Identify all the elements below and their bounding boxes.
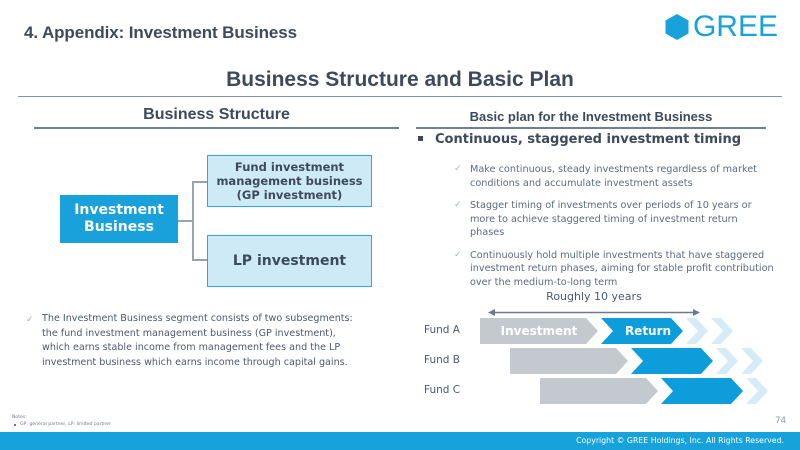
hexagon-icon <box>664 13 690 41</box>
org-connector <box>178 181 208 261</box>
copyright-bar: Copyright © GREE Holdings, Inc. All Righ… <box>0 432 800 450</box>
org-node-fund-line2: management business <box>216 174 362 188</box>
left-column-note: ✓ The Investment Business segment consis… <box>42 312 362 370</box>
org-node-lp-label: LP investment <box>233 254 346 268</box>
footnotes: Notes: GP: general partner, LP: limited … <box>12 414 111 428</box>
list-item-text: Continuously hold multiple investments t… <box>470 250 774 288</box>
check-icon: ✓ <box>454 249 462 263</box>
fund-bar-c <box>540 378 800 404</box>
right-column-heading-text: Basic plan for the Investment Business <box>416 109 766 124</box>
title-divider <box>18 96 782 97</box>
timeline-span-label: Roughly 10 years <box>484 290 704 303</box>
page-title: 4. Appendix: Investment Business <box>24 23 297 43</box>
org-node-fund-line3: (GP investment) <box>237 188 343 202</box>
org-node-lp-investment: LP investment <box>207 235 372 287</box>
logo-wordmark: GREE <box>693 12 778 42</box>
fund-bar-a <box>480 318 790 344</box>
fund-row-label: Fund C <box>424 384 476 396</box>
page-number: 74 <box>775 416 786 426</box>
org-node-fund-line1: Fund investment <box>235 160 344 174</box>
fund-bar-b <box>510 348 800 374</box>
connector-stem <box>178 220 193 222</box>
table-row: Fund B <box>424 348 784 374</box>
left-column-heading-text: Business Structure <box>34 106 399 124</box>
connector-branch-bottom <box>192 259 208 261</box>
square-bullet-icon <box>418 136 423 141</box>
gree-logo: GREE <box>664 12 778 42</box>
fund-row-label: Fund A <box>424 324 476 336</box>
left-heading-underline <box>34 127 399 129</box>
org-node-root-line2: Business <box>84 219 154 235</box>
list-item-text: Stagger timing of investments over perio… <box>470 200 752 238</box>
org-node-fund-investment: Fund investment management business (GP … <box>207 155 372 207</box>
list-item-text: Make continuous, steady investments rega… <box>470 164 757 189</box>
right-sub-bullet-list: ✓ Make continuous, steady investments re… <box>452 163 774 298</box>
connector-branch-top <box>192 181 208 183</box>
right-main-bullet: Continuous, staggered investment timing <box>418 132 778 147</box>
copyright-text: Copyright © GREE Holdings, Inc. All Righ… <box>576 436 784 445</box>
list-item: ✓ Continuously hold multiple investments… <box>452 249 774 290</box>
footnotes-title: Notes: <box>12 414 111 421</box>
fund-row-label: Fund B <box>424 354 476 366</box>
right-heading-underline <box>416 127 766 129</box>
timeline-span-arrow-icon <box>488 308 700 317</box>
check-icon: ✓ <box>26 313 34 328</box>
table-row: Fund C <box>424 378 784 404</box>
check-icon: ✓ <box>454 199 462 213</box>
table-row: Fund A Investment Return <box>424 318 784 344</box>
right-main-bullet-text: Continuous, staggered investment timing <box>435 132 741 147</box>
list-item: ✓ Make continuous, steady investments re… <box>452 163 774 190</box>
left-column-heading: Business Structure <box>34 106 399 129</box>
footnote-item: GP: general partner, LP: limited partner <box>12 421 111 428</box>
org-chart: Investment Business Fund investment mana… <box>60 150 390 295</box>
org-node-root: Investment Business <box>60 195 178 243</box>
org-node-root-line1: Investment <box>74 202 164 218</box>
fund-timeline-diagram: Roughly 10 years Fund A Investment Retur… <box>424 292 784 412</box>
check-icon: ✓ <box>454 163 462 177</box>
right-column-heading: Basic plan for the Investment Business <box>416 109 766 129</box>
slide-title: Business Structure and Basic Plan <box>0 68 800 92</box>
left-column-note-text: The Investment Business segment consists… <box>42 313 353 368</box>
list-item: ✓ Stagger timing of investments over per… <box>452 199 774 240</box>
